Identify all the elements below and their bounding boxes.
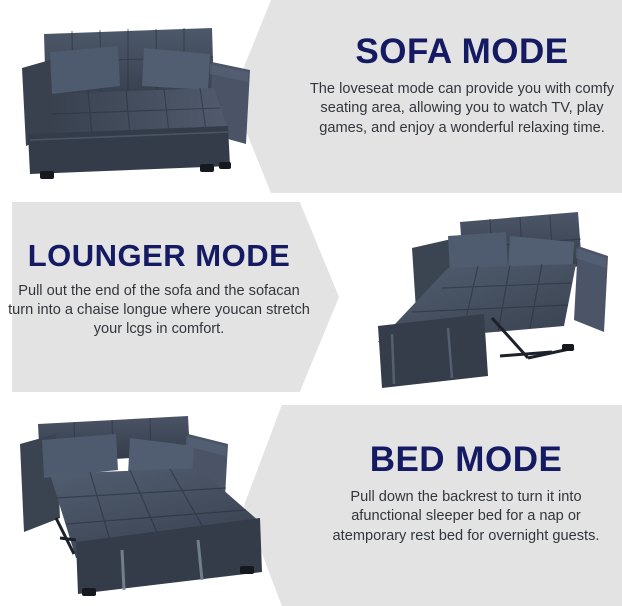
sofa-mode-text: SOFA MODE The loveseat mode can provide … bbox=[306, 34, 618, 138]
lounger-mode-body: Pull out the end of the sofa and the sof… bbox=[8, 282, 310, 340]
lounger-mode-text: LOUNGER MODE Pull out the end of the sof… bbox=[8, 240, 310, 340]
bed-mode-heading: BED MODE bbox=[316, 442, 616, 479]
bed-mode-text: BED MODE Pull down the backrest to turn … bbox=[316, 442, 616, 546]
lounger-mode-image bbox=[352, 206, 618, 392]
lounger-mode-heading: LOUNGER MODE bbox=[8, 240, 310, 273]
bed-mode-body: Pull down the backrest to turn it into a… bbox=[316, 488, 616, 546]
sofa-mode-heading: SOFA MODE bbox=[306, 34, 618, 71]
infographic-stage: SOFA MODE The loveseat mode can provide … bbox=[0, 0, 622, 606]
sofa-mode-body: The loveseat mode can provide you with c… bbox=[306, 80, 618, 138]
bed-mode-image bbox=[12, 414, 290, 600]
sofa-mode-image bbox=[14, 16, 266, 188]
